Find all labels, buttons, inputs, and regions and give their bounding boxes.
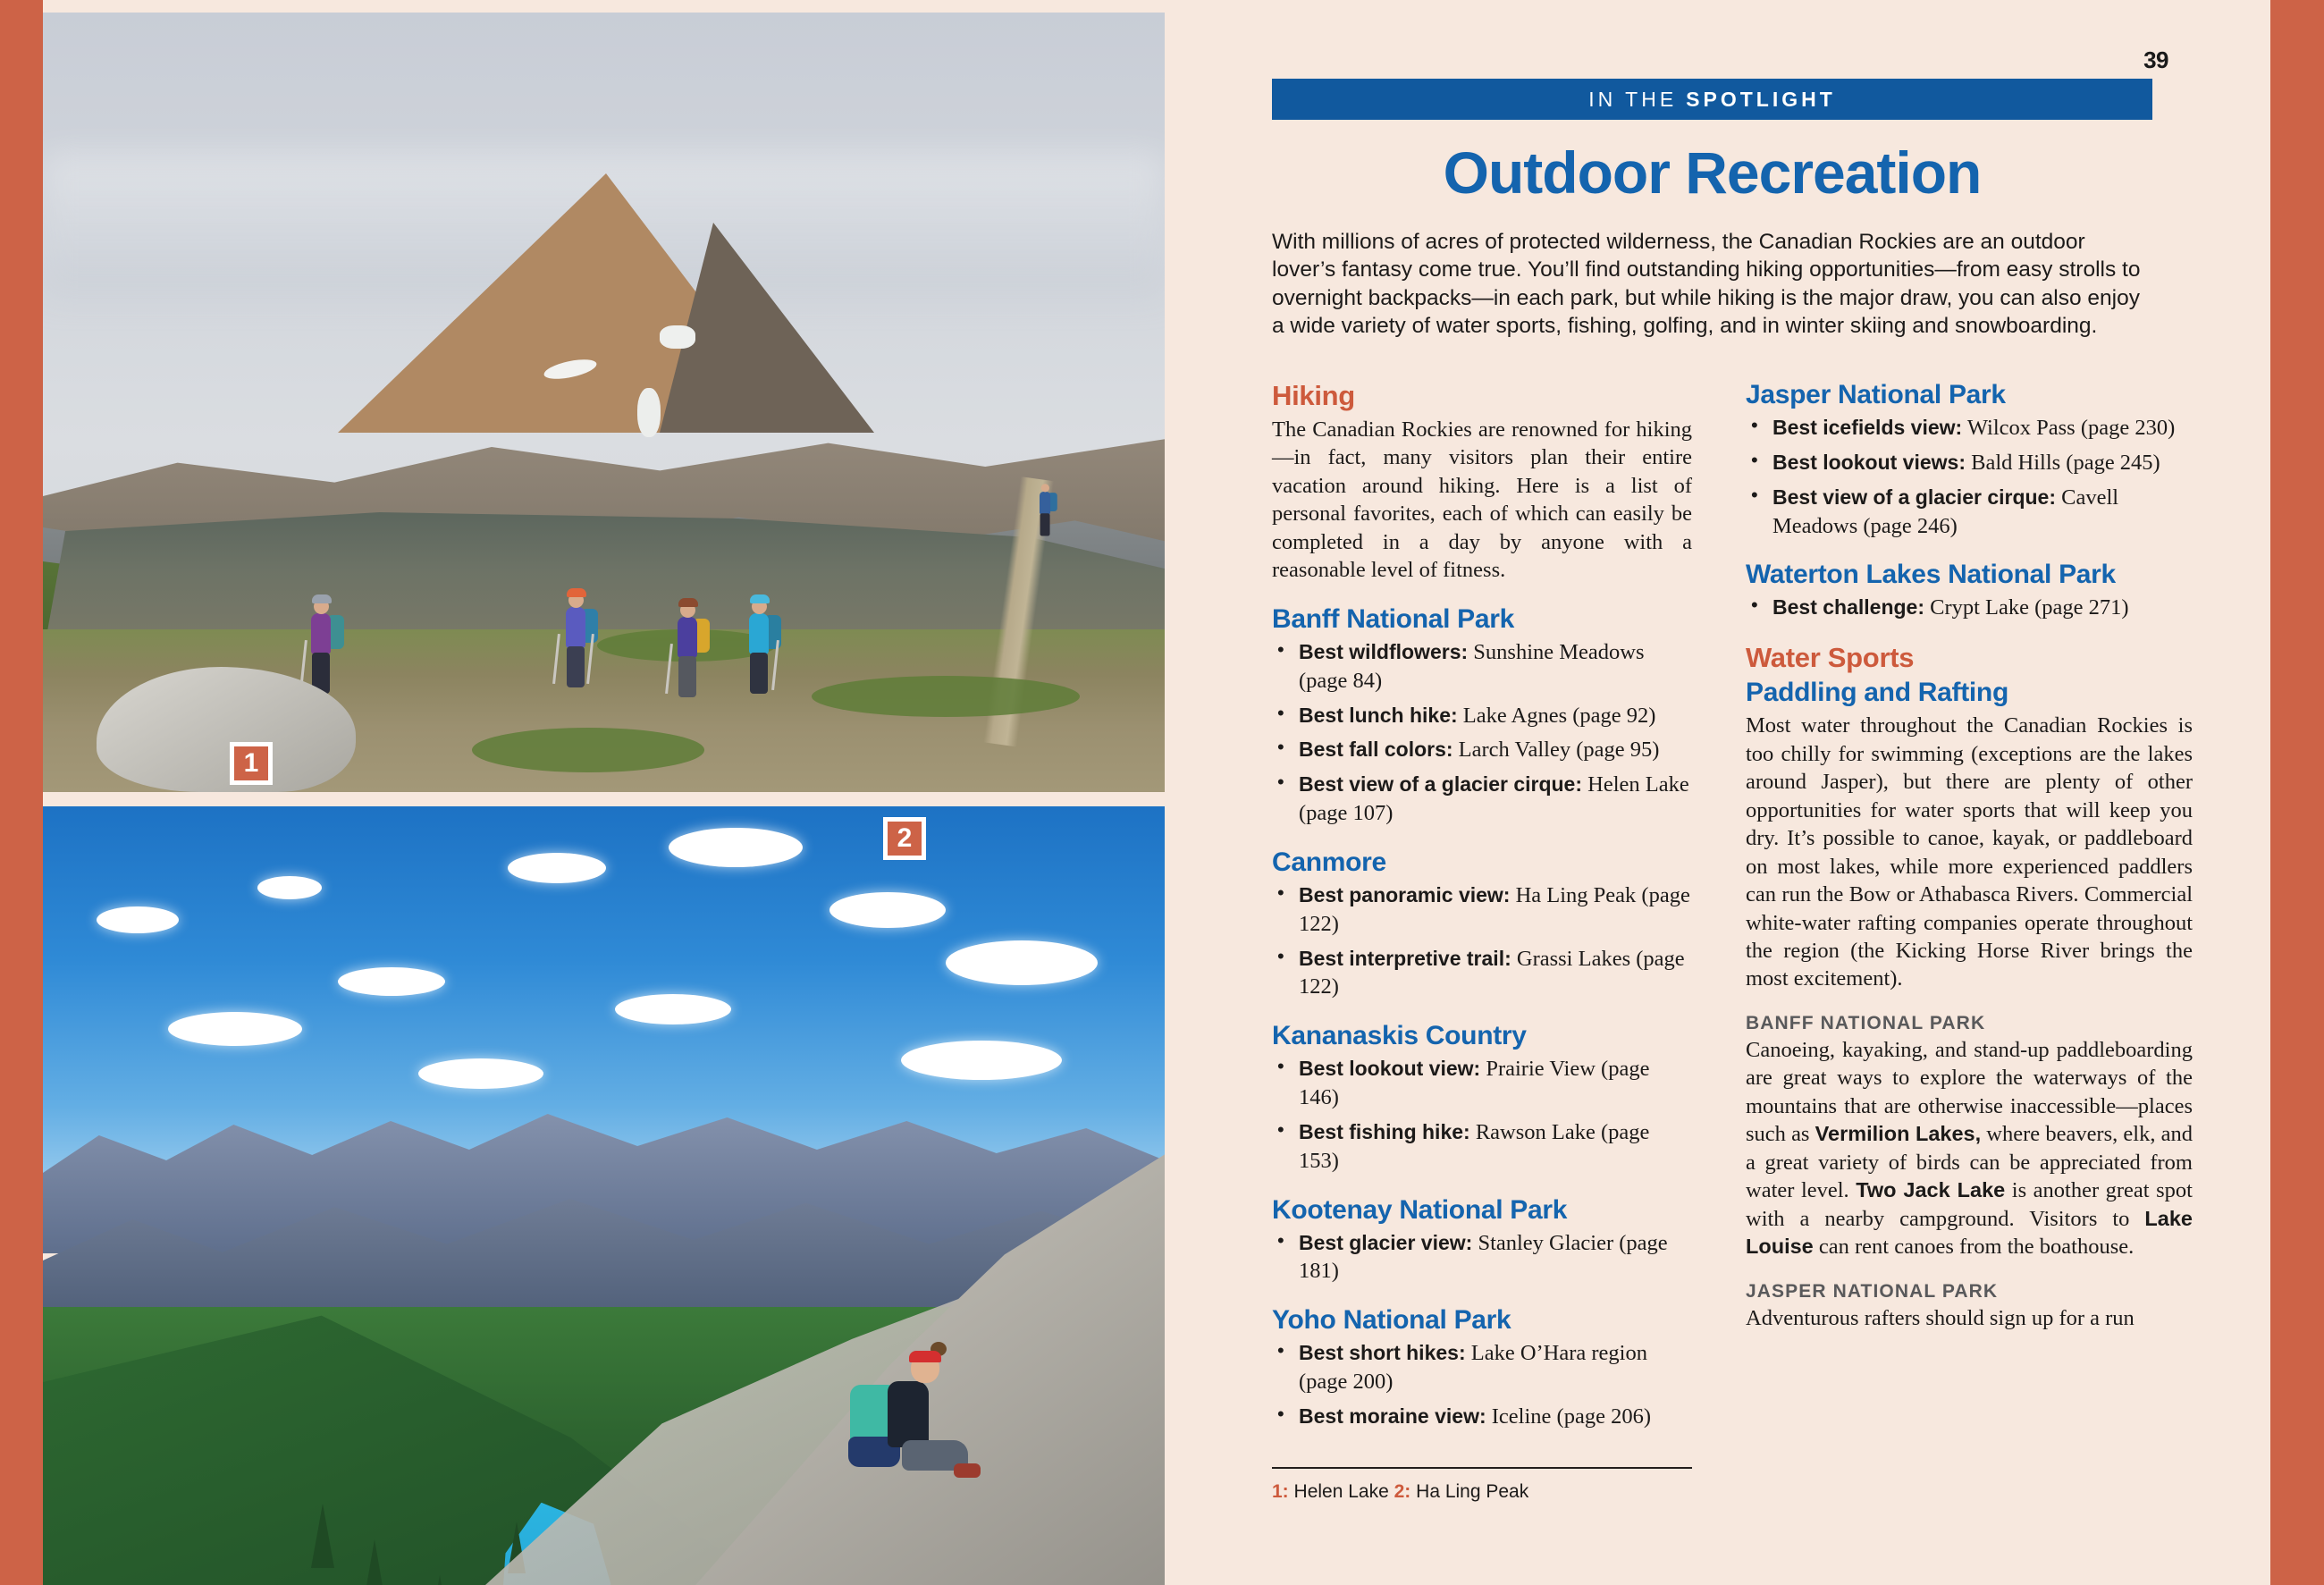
snow-patch: [637, 388, 661, 437]
banff-paddling-text: Canoeing, kayaking, and stand-up paddleb…: [1746, 1036, 2193, 1261]
section-heading-hiking: Hiking: [1272, 380, 1692, 412]
park-heading-yoho: Yoho National Park: [1272, 1305, 1692, 1336]
caption-name-1: Helen Lake: [1294, 1481, 1389, 1502]
park-list-kootenay: Best glacier view: Stanley Glacier (page…: [1272, 1229, 1692, 1286]
list-item: Best short hikes: Lake O’Hara region (pa…: [1272, 1339, 1692, 1396]
park-group-jasper: Jasper National Park Best icefields view…: [1746, 380, 2193, 540]
park-group-canmore: Canmore Best panoramic view: Ha Ling Pea…: [1272, 847, 1692, 1001]
list-item: Best view of a glacier cirque: Cavell Me…: [1746, 484, 2193, 541]
park-heading-canmore: Canmore: [1272, 847, 1692, 878]
list-item: Best lunch hike: Lake Agnes (page 92): [1272, 702, 1692, 730]
photo-ha-ling-peak: 2: [43, 806, 1165, 1585]
cloud: [168, 1012, 302, 1046]
park-list-banff: Best wildflowers: Sunshine Meadows (page…: [1272, 638, 1692, 828]
park-heading-banff: Banff National Park: [1272, 604, 1692, 635]
list-item: Best icefields view: Wilcox Pass (page 2…: [1746, 414, 2193, 443]
list-item: Best moraine view: Iceline (page 206): [1272, 1403, 1692, 1431]
park-list-yoho: Best short hikes: Lake O’Hara region (pa…: [1272, 1339, 1692, 1431]
list-item: Best panoramic view: Ha Ling Peak (page …: [1272, 881, 1692, 939]
cloud: [338, 967, 445, 996]
caption-name-2: Ha Ling Peak: [1416, 1481, 1528, 1502]
page-title: Outdoor Recreation: [1272, 139, 2152, 207]
park-heading-waterton: Waterton Lakes National Park: [1746, 560, 2193, 590]
water-sports-text: Most water throughout the Canadian Rocki…: [1746, 712, 2193, 993]
cloud: [829, 892, 946, 928]
banner-emphasis: SPOTLIGHT: [1686, 88, 1836, 112]
water-sports-section: Water Sports Paddling and Rafting Most w…: [1746, 642, 2193, 993]
column-left: Hiking The Canadian Rockies are renowned…: [1272, 380, 1692, 1451]
list-item: Best challenge: Crypt Lake (page 271): [1746, 594, 2193, 622]
water-sports-jasper: JASPER NATIONAL PARK Adventurous rafters…: [1746, 1281, 2193, 1332]
text-panel: 39 IN THE SPOTLIGHT Outdoor Recreation W…: [1184, 0, 2251, 1585]
park-heading-kananaskis: Kananaskis Country: [1272, 1021, 1692, 1051]
cloud: [418, 1058, 543, 1089]
subhead-jasper: JASPER NATIONAL PARK: [1746, 1281, 2193, 1303]
photo-column: 1: [43, 0, 1165, 1585]
column-right: Jasper National Park Best icefields view…: [1746, 380, 2193, 1352]
park-group-kootenay: Kootenay National Park Best glacier view…: [1272, 1195, 1692, 1286]
photo-helen-lake: 1: [43, 13, 1165, 792]
left-edge-bar: [0, 0, 43, 1585]
photo-badge-2: 2: [883, 817, 926, 860]
hiking-section: Hiking The Canadian Rockies are renowned…: [1272, 380, 1692, 585]
list-item: Best interpretive trail: Grassi Lakes (p…: [1272, 945, 1692, 1002]
park-group-yoho: Yoho National Park Best short hikes: Lak…: [1272, 1305, 1692, 1431]
meadow-patch: [812, 676, 1080, 717]
cloud: [257, 876, 322, 899]
park-list-waterton: Best challenge: Crypt Lake (page 271): [1746, 594, 2193, 622]
caption-number-1: 1:: [1272, 1481, 1289, 1502]
right-edge-bar: [2270, 0, 2324, 1585]
cloud: [97, 906, 179, 933]
list-item: Best fall colors: Larch Valley (page 95): [1272, 736, 1692, 764]
page-number: 39: [2143, 46, 2168, 74]
cloud: [615, 994, 731, 1024]
photo-captions: 1: Helen Lake 2: Ha Ling Peak: [1272, 1467, 1692, 1503]
list-item: Best glacier view: Stanley Glacier (page…: [1272, 1229, 1692, 1286]
park-list-jasper: Best icefields view: Wilcox Pass (page 2…: [1746, 414, 2193, 540]
park-list-canmore: Best panoramic view: Ha Ling Peak (page …: [1272, 881, 1692, 1001]
section-heading-water-sports: Water Sports: [1746, 642, 2193, 674]
list-item: Best wildflowers: Sunshine Meadows (page…: [1272, 638, 1692, 696]
caption-text: 1: Helen Lake 2: Ha Ling Peak: [1272, 1481, 1692, 1503]
park-heading-jasper: Jasper National Park: [1746, 380, 2193, 410]
park-group-waterton: Waterton Lakes National Park Best challe…: [1746, 560, 2193, 622]
two-column-body: Hiking The Canadian Rockies are renowned…: [1272, 380, 2166, 1560]
cloud: [508, 853, 606, 883]
spotlight-banner: IN THE SPOTLIGHT: [1272, 79, 2152, 120]
caption-divider: [1272, 1467, 1692, 1469]
park-list-kananaskis: Best lookout view: Prairie View (page 14…: [1272, 1055, 1692, 1175]
mountain-peak-secondary: [660, 223, 874, 433]
cloud: [901, 1041, 1062, 1080]
photo-badge-1: 1: [230, 742, 273, 785]
snow-patch: [660, 325, 695, 349]
jasper-rafting-text: Adventurous rafters should sign up for a…: [1746, 1304, 2193, 1332]
cloud: [946, 940, 1098, 985]
banner-prefix: IN THE: [1588, 88, 1677, 112]
list-item: Best fishing hike: Rawson Lake (page 153…: [1272, 1118, 1692, 1176]
caption-number-2: 2:: [1394, 1481, 1411, 1502]
list-item: Best lookout views: Bald Hills (page 245…: [1746, 449, 2193, 477]
right-inner-margin: [2251, 0, 2270, 1585]
hiking-intro-text: The Canadian Rockies are renowned for hi…: [1272, 416, 1692, 585]
water-sports-banff: BANFF NATIONAL PARK Canoeing, kayaking, …: [1746, 1013, 2193, 1261]
subsection-heading-paddling: Paddling and Rafting: [1746, 678, 2193, 708]
park-group-banff: Banff National Park Best wildflowers: Su…: [1272, 604, 1692, 828]
subhead-banff: BANFF NATIONAL PARK: [1746, 1013, 2193, 1034]
cloud: [669, 828, 803, 867]
park-group-kananaskis: Kananaskis Country Best lookout view: Pr…: [1272, 1021, 1692, 1175]
list-item: Best lookout view: Prairie View (page 14…: [1272, 1055, 1692, 1112]
intro-paragraph: With millions of acres of protected wild…: [1272, 228, 2152, 341]
meadow-patch: [472, 728, 704, 772]
park-heading-kootenay: Kootenay National Park: [1272, 1195, 1692, 1226]
list-item: Best view of a glacier cirque: Helen Lak…: [1272, 771, 1692, 828]
